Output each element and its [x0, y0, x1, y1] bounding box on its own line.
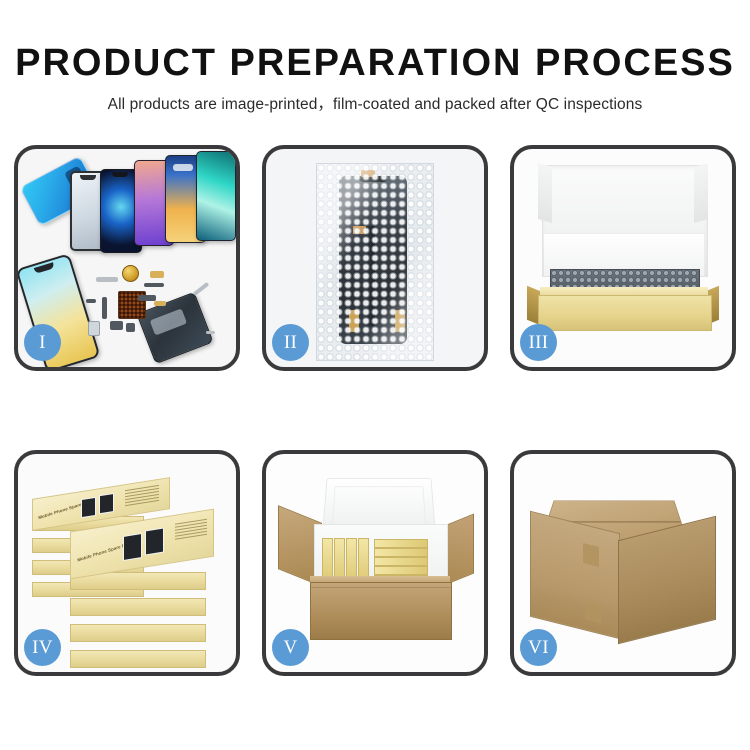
stacked-box-icon [70, 624, 206, 642]
box-screen-image-icon [99, 493, 114, 514]
step-1-panel: I [14, 145, 240, 371]
kraft-box-front-icon [538, 295, 712, 331]
step-badge-5: V [272, 629, 309, 666]
part-connector-icon [154, 301, 166, 306]
phone-screen-teal-icon [196, 151, 236, 241]
bubble-wrap-bag-icon [316, 163, 434, 361]
phone-teardown-body-icon [136, 292, 213, 365]
process-step-5: V [262, 450, 488, 676]
stacked-box-icon [70, 598, 206, 616]
stacked-box-icon [70, 650, 206, 668]
part-module-icon [110, 321, 123, 330]
box-screen-image-icon [81, 497, 96, 518]
carton-front-icon [310, 582, 452, 640]
step-3-panel: III [510, 145, 736, 371]
process-step-4: Mobile Phone Spare Parts Mobile [14, 450, 240, 676]
process-step-3: III [510, 145, 736, 371]
part-screw-bar-icon [86, 299, 96, 303]
step-badge-4: IV [24, 629, 61, 666]
box-lid-left-flap-icon [538, 163, 552, 223]
bubble-texture-icon [317, 164, 433, 360]
step-5-panel: V [262, 450, 488, 676]
part-bracket-icon [96, 277, 118, 282]
carton-tape-upper-icon [583, 543, 599, 567]
carton-tape-lower-icon [585, 601, 601, 623]
page-subtitle: All products are image-printed，film-coat… [0, 82, 750, 113]
box-spec-lines-icon [125, 485, 159, 508]
screw-icon [206, 331, 215, 334]
box-spec-lines-icon [175, 519, 207, 542]
process-step-6: VI [510, 450, 736, 676]
part-strip-icon [102, 297, 107, 319]
step-badge-6: VI [520, 629, 557, 666]
part-flex-cable-icon [144, 283, 164, 287]
step-badge-2: II [272, 324, 309, 361]
process-step-2: II [262, 145, 488, 371]
step-2-panel: II [262, 145, 488, 371]
step-badge-1: I [24, 324, 61, 361]
box-screen-image-icon [123, 533, 142, 561]
step-6-panel: VI [510, 450, 736, 676]
part-sim-tray-icon [88, 321, 100, 336]
part-ribbon-icon [138, 295, 156, 301]
header: PRODUCT PREPARATION PROCESS All products… [0, 0, 750, 113]
carton-left-face-icon [530, 511, 620, 639]
box-lid-right-flap-icon [694, 163, 708, 223]
page-title: PRODUCT PREPARATION PROCESS [0, 0, 750, 82]
product-preparation-infographic: PRODUCT PREPARATION PROCESS All products… [0, 0, 750, 750]
step-badge-3: III [520, 324, 557, 361]
process-step-grid: I II [14, 145, 736, 690]
step-4-panel: Mobile Phone Spare Parts Mobile [14, 450, 240, 676]
tweezers-icon [193, 282, 210, 296]
process-step-1: I [14, 145, 240, 371]
box-screen-image-icon [145, 528, 164, 556]
speaker-coil-icon [122, 265, 139, 282]
part-chip-icon [126, 323, 135, 332]
part-flex-gold-icon [150, 271, 164, 278]
